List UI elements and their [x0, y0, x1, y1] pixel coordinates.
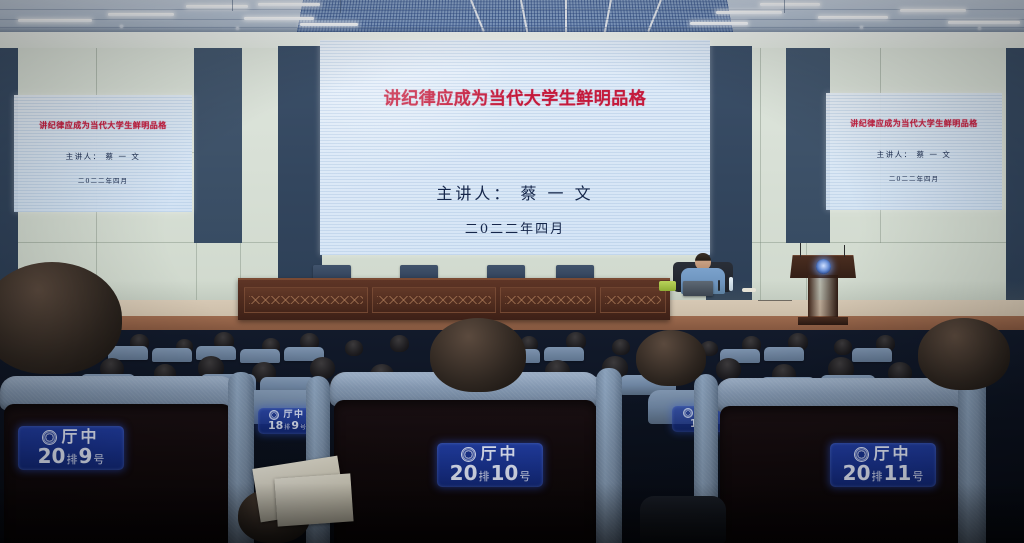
plate-row-number: 20 排 9 号	[38, 446, 105, 467]
plate-row-value: 20	[450, 463, 478, 484]
plate-seat-char: 号	[519, 471, 530, 483]
foreground-person-head	[636, 330, 706, 386]
ceiling-light-fixture	[716, 11, 782, 14]
ceiling-light-fixture	[900, 9, 966, 12]
plate-row-value: 20	[38, 446, 66, 467]
lecture-hall-photo: 讲纪律应成为当代大学生鲜明品格 主讲人： 蔡 一 文 二0二二年四月 讲纪律应成…	[0, 0, 1024, 543]
seat-armrest-divider	[596, 368, 622, 543]
plate-emblem-icon	[42, 430, 57, 445]
audience-seat-far	[240, 349, 280, 363]
plate-row-number: 20 排 10 号	[450, 463, 531, 484]
plate-emblem-icon	[461, 447, 476, 462]
ceiling-hanger-rod	[340, 0, 341, 13]
plate-row-number: 20 排 11 号	[843, 463, 924, 484]
podium-base	[798, 317, 848, 325]
podium-microphone	[844, 245, 845, 257]
audience-head	[345, 340, 363, 356]
plate-seat-value: 10	[491, 463, 519, 484]
ceiling-light-fixture	[948, 21, 1020, 24]
podium	[790, 255, 856, 323]
right-projection-screen: 讲纪律应成为当代大学生鲜明品格 主讲人： 蔡 一 文 二0二二年四月	[826, 93, 1002, 210]
table-chevron-inlay	[249, 296, 363, 304]
audience-seat-far	[152, 348, 192, 362]
ceiling-seam	[0, 19, 1024, 20]
ceiling-light-fixture	[760, 3, 820, 6]
plate-seat-value: 9	[78, 446, 92, 467]
screen-title-text: 讲纪律应成为当代大学生鲜明品格	[320, 84, 710, 109]
ceiling-light-fixture	[186, 5, 248, 8]
screen-date-text: 二0二二年四月	[320, 218, 710, 237]
desk-water-bottle	[729, 277, 733, 291]
table-chevron-inlay	[605, 296, 661, 304]
podium-emblem-icon	[816, 259, 831, 274]
seat-back	[4, 404, 232, 543]
table-panel	[244, 287, 368, 313]
audience-seat-far	[764, 347, 804, 361]
screen-speaker-text: 主讲人： 蔡 一 文	[826, 149, 1002, 160]
foreground-person-head	[430, 318, 526, 392]
plate-row-value: 20	[843, 463, 871, 484]
seat-plate-20-10: 厅中 20 排 10 号	[437, 443, 543, 487]
ceiling-light-fixture	[244, 17, 314, 20]
screen-speaker-text: 主讲人： 蔡 一 文	[14, 151, 192, 162]
ceiling-seam	[0, 9, 1024, 10]
table-panel	[500, 287, 596, 313]
audience-head	[716, 358, 741, 380]
plate-row-char: 排	[66, 454, 77, 466]
plate-seat-value: 9	[291, 420, 299, 432]
podium-body	[808, 275, 838, 323]
table-panel	[372, 287, 496, 313]
desk-paper	[742, 288, 756, 292]
plate-row-value: 18	[268, 420, 283, 432]
screen-date-text: 二0二二年四月	[826, 173, 1002, 183]
ceiling-light-fixture	[18, 19, 92, 22]
plate-emblem-icon	[854, 447, 869, 462]
foreground-papers	[274, 473, 353, 526]
table-panel	[600, 287, 666, 313]
plate-row-number: 18 排 9 号	[268, 420, 306, 432]
plate-row-char: 排	[479, 471, 490, 483]
seat-plate-20-9: 厅中 20 排 9 号	[18, 426, 124, 470]
audience-head	[834, 339, 852, 355]
plate-seat-char: 号	[912, 471, 923, 483]
seat-plate-20-11: 厅中 20 排 11 号	[830, 443, 936, 487]
table-chevron-inlay	[505, 296, 591, 304]
screen-date-text: 二0二二年四月	[14, 175, 192, 185]
stage-conference-table	[238, 278, 670, 320]
ceiling-hanger-rod	[784, 0, 785, 13]
desk-microphone	[718, 280, 720, 291]
seat-armrest-divider	[958, 374, 986, 543]
audience-seat-far	[544, 347, 584, 361]
desk-green-item	[659, 281, 676, 291]
plate-seat-char: 号	[93, 454, 104, 466]
ceiling-hanger-rod	[232, 0, 233, 11]
main-projection-screen: 讲纪律应成为当代大学生鲜明品格 主讲人： 蔡 一 文 二0二二年四月	[320, 40, 710, 255]
plate-row-char: 排	[872, 471, 883, 483]
podium-cable	[758, 300, 792, 301]
foreground-person-head	[918, 318, 1010, 390]
plate-seat-value: 11	[884, 463, 912, 484]
ceiling-light-fixture	[690, 22, 748, 25]
ceiling-light-fixture	[108, 13, 174, 16]
audience-head	[612, 339, 630, 355]
ceiling-light-fixture	[818, 16, 888, 19]
speaker-laptop	[683, 281, 713, 296]
audience-seat-far	[852, 348, 892, 362]
ceiling-light-fixture	[258, 3, 320, 6]
wall-accent-navy-left-inner	[194, 48, 242, 243]
podium-microphone	[800, 243, 801, 257]
screen-title-text: 讲纪律应成为当代大学生鲜明品格	[826, 118, 1002, 129]
ceiling	[0, 0, 1024, 34]
screen-speaker-text: 主讲人： 蔡 一 文	[320, 180, 710, 204]
plate-row-char: 排	[284, 425, 290, 431]
left-projection-screen: 讲纪律应成为当代大学生鲜明品格 主讲人： 蔡 一 文 二0二二年四月	[14, 95, 192, 212]
wall-accent-navy-right-inner	[786, 48, 830, 243]
foreground-bag	[640, 496, 726, 543]
audience-head	[390, 335, 409, 352]
table-chevron-inlay	[377, 296, 491, 304]
screen-title-text: 讲纪律应成为当代大学生鲜明品格	[14, 120, 192, 131]
